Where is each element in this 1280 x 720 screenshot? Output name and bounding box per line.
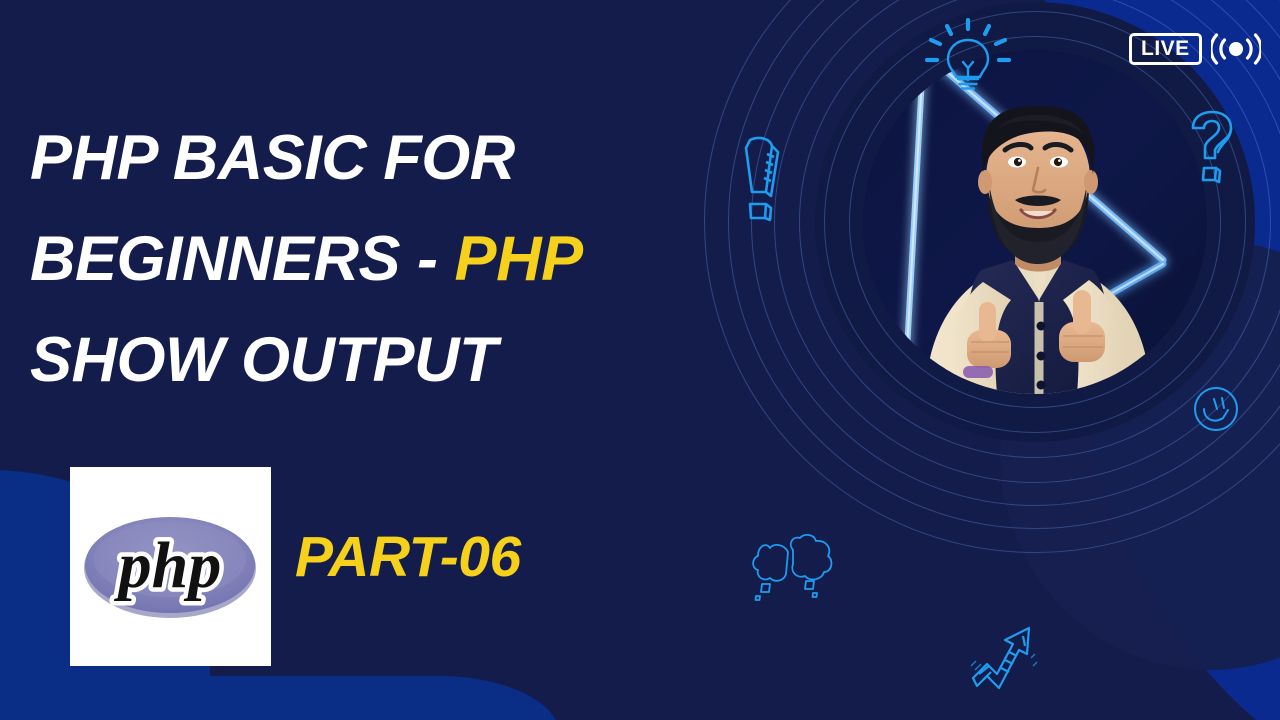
headline: PHP BASIC FOR BEGINNERS - PHP SHOW OUTPU…	[30, 108, 750, 411]
thumbnail-canvas: PHP BASIC FOR BEGINNERS - PHP SHOW OUTPU…	[0, 0, 1280, 720]
live-badge-label: LIVE	[1129, 33, 1202, 65]
svg-text:php: php	[114, 529, 222, 602]
zigzag-arrow-icon	[967, 622, 1041, 694]
headline-line-2-white: BEGINNERS -	[30, 224, 455, 294]
php-logo-mark: php php	[70, 467, 271, 666]
exclamation-icon	[734, 134, 786, 222]
lightbulb-icon	[925, 18, 1011, 94]
headline-line-2-yellow: PHP	[455, 224, 583, 294]
broadcast-icon	[1211, 32, 1261, 66]
headline-line-1: PHP BASIC FOR	[30, 108, 750, 209]
thought-bubbles-icon	[748, 532, 836, 604]
presenter-photo	[863, 50, 1207, 394]
question-mark-icon	[1187, 110, 1237, 188]
php-logo: php php	[70, 467, 271, 666]
presenter-photo-illustration	[863, 50, 1207, 394]
background-bottom-strip	[0, 676, 560, 720]
php-logo-text: php php	[114, 529, 222, 602]
headline-line-3: SHOW OUTPUT	[30, 310, 750, 411]
headline-line-2: BEGINNERS - PHP	[30, 209, 750, 310]
smiley-icon	[1192, 385, 1240, 433]
live-badge: LIVE	[1129, 32, 1261, 66]
part-label: PART-06	[295, 524, 521, 590]
